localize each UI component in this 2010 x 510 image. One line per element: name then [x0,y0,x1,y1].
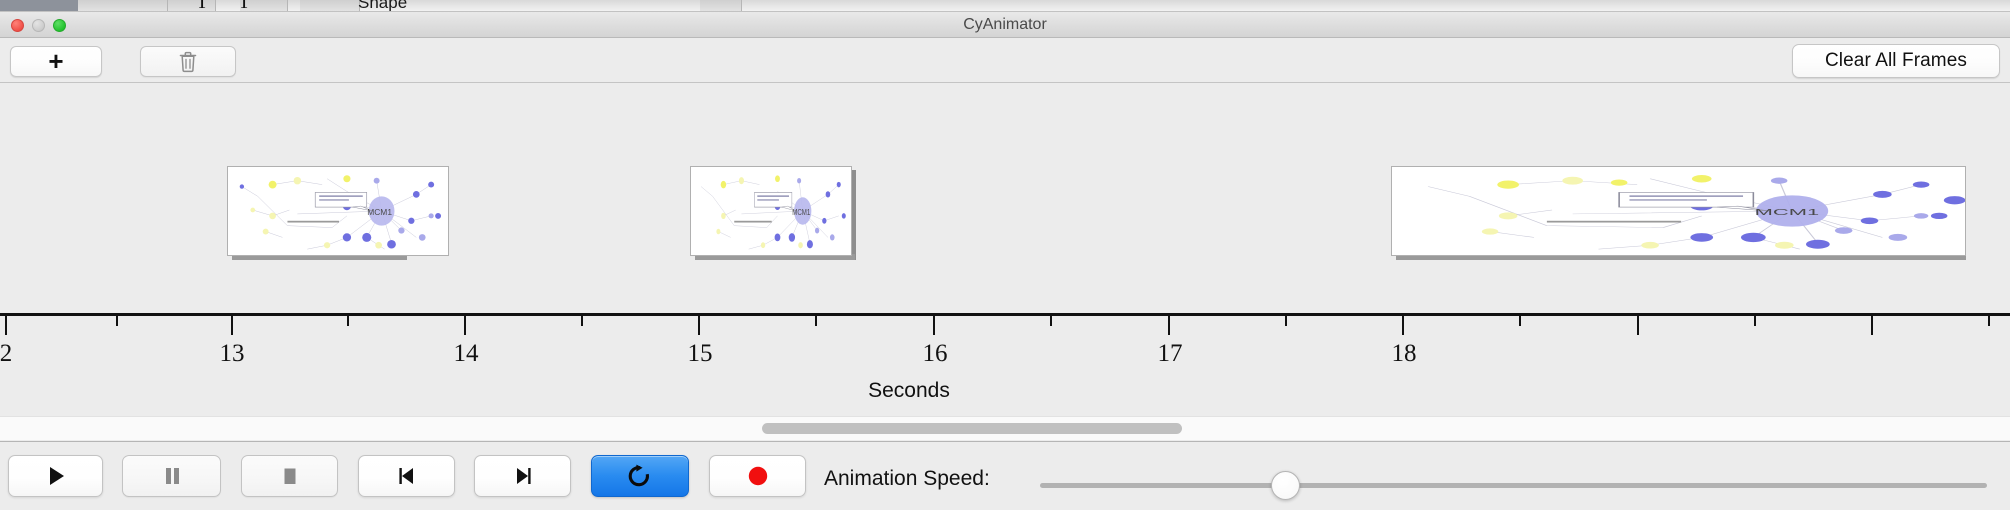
axis-tick-label: 13 [220,340,245,368]
svg-text:MCM1: MCM1 [792,207,810,217]
axis-tick-minor [1050,316,1052,326]
stop-button[interactable] [241,455,338,497]
network-graph-icon: MCM1 [228,167,448,255]
axis-tick-label: 14 [454,340,479,368]
axis-tick-minor [1988,316,1990,326]
frame-thumbnail[interactable]: MCM1 [690,166,852,256]
svg-text:MCM1: MCM1 [367,207,392,217]
background-window-selected-tab [0,0,78,12]
axis-tick-major [698,316,700,335]
stop-icon [278,464,302,488]
play-button[interactable] [8,455,103,497]
toolbar: + Clear All Frames [0,38,2010,83]
timeline-axis [0,313,2010,316]
background-window-tab [78,0,168,12]
skip-backward-icon [394,464,420,488]
axis-tick-label: 2 [0,340,12,368]
network-graph-icon: MCM1 [691,167,851,255]
background-window-glyph-icon: T [238,0,250,12]
play-icon [44,464,68,488]
animation-speed-label: Animation Speed: [824,467,990,491]
slider-thumb[interactable] [1271,471,1300,500]
horizontal-scrollbar-thumb[interactable] [762,423,1182,434]
timeline-canvas[interactable]: MCM1 [0,84,2010,314]
clear-all-frames-button[interactable]: Clear All Frames [1792,44,2000,78]
loop-icon [626,463,654,489]
trash-icon [178,51,198,73]
skip-forward-icon [510,464,536,488]
axis-title: Seconds [0,379,2010,403]
background-window-label: Shape [358,0,407,12]
pause-icon [160,464,184,488]
axis-tick-minor [1754,316,1756,326]
axis-tick-label: 18 [1392,340,1417,368]
axis-tick-major [1402,316,1404,335]
axis-tick-minor [581,316,583,326]
frame-thumbnail[interactable]: MCM1 [1391,166,1966,256]
frame-thumbnail[interactable]: MCM1 [227,166,449,256]
pause-button[interactable] [122,455,221,497]
title-bar: CyAnimator [0,12,2010,38]
background-window-glyph-icon: T [196,0,208,12]
network-graph-icon: MCM1 [1392,167,1965,255]
axis-tick-major [231,316,233,335]
axis-tick-minor [116,316,118,326]
axis-tick-label: 16 [923,340,948,368]
axis-tick-major [1871,316,1873,335]
add-frame-button[interactable]: + [10,46,102,77]
axis-tick-label: 15 [688,340,713,368]
background-window-tab [300,0,360,12]
axis-tick-minor [347,316,349,326]
skip-to-end-button[interactable] [474,455,571,497]
slider-track[interactable] [1040,483,1987,488]
plus-icon: + [48,48,63,74]
axis-title-label: Seconds [868,379,950,402]
animation-speed-slider[interactable] [1040,469,1987,502]
horizontal-scrollbar-track[interactable] [0,416,2010,440]
record-icon [746,464,770,488]
axis-tick-major [5,316,7,335]
background-window-tab [700,0,742,12]
skip-to-start-button[interactable] [358,455,455,497]
clear-all-frames-label: Clear All Frames [1825,50,1967,72]
window-title: CyAnimator [0,12,2010,38]
axis-tick-major [464,316,466,335]
axis-tick-label: 17 [1158,340,1183,368]
playback-control-bar: Animation Speed: [0,441,2010,510]
axis-tick-minor [815,316,817,326]
axis-tick-major [1168,316,1170,335]
axis-tick-major [933,316,935,335]
svg-text:MCM1: MCM1 [1755,207,1820,217]
axis-tick-major [1637,316,1639,335]
cyanimator-window: T T Shape CyAnimator + Clear All Frames [0,0,2010,510]
axis-tick-minor [1285,316,1287,326]
loop-button[interactable] [591,455,689,497]
background-window-strip: T T Shape [0,0,2010,12]
axis-tick-minor [1519,316,1521,326]
record-button[interactable] [709,455,806,497]
background-window-tab [168,0,216,12]
delete-frame-button[interactable] [140,46,236,77]
